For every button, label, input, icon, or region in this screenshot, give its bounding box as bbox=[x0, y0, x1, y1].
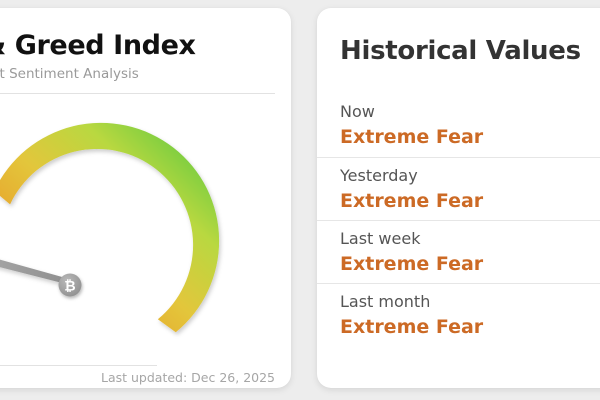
gauge-hub: ₿ bbox=[59, 274, 82, 297]
gauge-needle bbox=[0, 247, 70, 285]
history-label-last-week: Last week bbox=[340, 221, 600, 249]
history-value-yesterday: Extreme Fear bbox=[340, 186, 600, 213]
history-label-yesterday: Yesterday bbox=[340, 158, 600, 186]
list-item: Now Extreme Fear bbox=[317, 94, 600, 157]
history-value-now: Extreme Fear bbox=[340, 122, 600, 149]
gauge-arc-band bbox=[0, 123, 219, 332]
history-label-last-month: Last month bbox=[340, 284, 600, 312]
history-value-last-week: Extreme Fear bbox=[340, 249, 600, 276]
last-updated-text: Last updated: Dec 26, 2025 bbox=[101, 370, 275, 385]
list-item: Last week Extreme Fear bbox=[317, 220, 600, 283]
fear-greed-gauge-card: Fear & Greed Index Crypto Market Sentime… bbox=[0, 8, 291, 388]
historical-values-title: Historical Values bbox=[340, 36, 581, 66]
bitcoin-icon: ₿ bbox=[64, 278, 75, 294]
list-item: Yesterday Extreme Fear bbox=[317, 157, 600, 220]
list-item: Last month Extreme Fear bbox=[317, 283, 600, 346]
app-root: Fear & Greed Index Crypto Market Sentime… bbox=[0, 0, 600, 400]
historical-values-card: Historical Values Now Extreme Fear Yeste… bbox=[317, 8, 600, 388]
history-label-now: Now bbox=[340, 94, 600, 122]
history-value-last-month: Extreme Fear bbox=[340, 312, 600, 339]
footer-divider bbox=[0, 365, 157, 366]
gauge-chart: ₿ bbox=[0, 8, 291, 388]
historical-values-list: Now Extreme Fear Yesterday Extreme Fear … bbox=[317, 94, 600, 346]
